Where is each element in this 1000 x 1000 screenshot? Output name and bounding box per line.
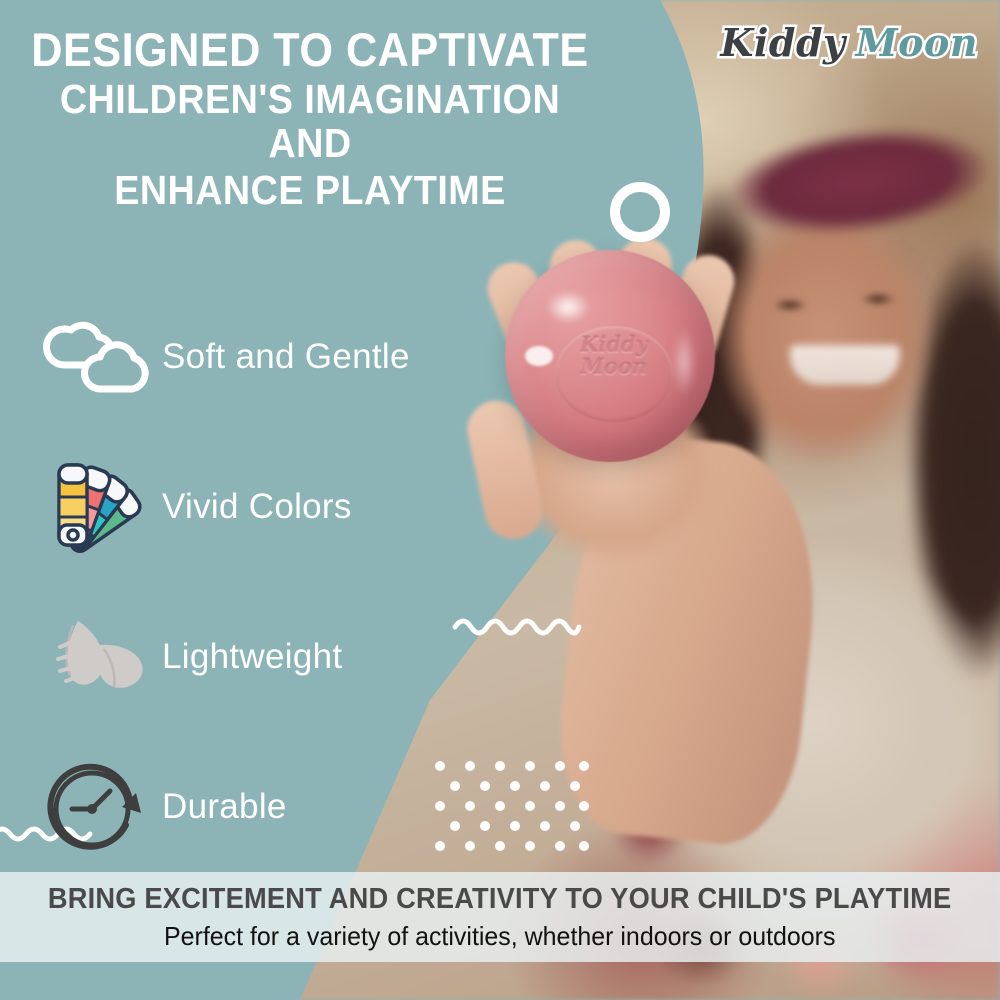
ball-rim-light: [669, 316, 699, 408]
feature-item-durable: Durable: [34, 732, 504, 882]
feature-label: Durable: [162, 787, 287, 827]
headline: Designed to Captivate Children's Imagina…: [0, 26, 620, 213]
banner-subtitle: Perfect for a variety of activities, whe…: [164, 921, 835, 952]
child-eye-right: [856, 290, 900, 308]
headline-line-1: Designed to Captivate: [25, 26, 595, 74]
product-ball: Kiddy Moon: [505, 250, 715, 462]
feature-item-vivid-colors: Vivid Colors: [34, 432, 504, 582]
brand-logo: KiddyMoon: [720, 20, 978, 65]
ball-embossed-logo: Kiddy Moon: [555, 334, 673, 378]
brand-logo-kiddy: Kiddy: [720, 20, 845, 65]
child-smile: [790, 345, 900, 385]
feature-label: Lightweight: [162, 637, 342, 677]
ball-logo-line1: Kiddy: [555, 334, 673, 356]
ball-specular-dot: [525, 346, 553, 366]
cloud-icon: [34, 309, 158, 405]
clock-refresh-icon: [34, 759, 158, 855]
ball-highlight: [537, 284, 599, 330]
ball-logo-line2: Moon: [555, 356, 673, 378]
bottom-banner: Bring Excitement and Creativity to Your …: [0, 872, 1000, 962]
feature-item-soft-and-gentle: Soft and Gentle: [34, 282, 504, 432]
feature-list: Soft and Gentle: [34, 282, 504, 882]
feature-item-lightweight: Lightweight: [34, 582, 504, 732]
headline-line-2: Children's Imagination and: [25, 78, 595, 165]
headline-line-3: Enhance Playtime: [25, 169, 595, 212]
feature-label: Vivid Colors: [162, 487, 352, 527]
feather-icon: [34, 609, 158, 705]
brand-logo-moon: Moon: [856, 20, 978, 65]
feature-label: Soft and Gentle: [162, 337, 410, 377]
product-infographic-poster: Kiddy Moon Designed to Captivate Childre…: [0, 0, 1000, 1000]
color-swatch-fan-icon: [34, 459, 158, 555]
banner-title: Bring Excitement and Creativity to Your …: [48, 883, 952, 916]
